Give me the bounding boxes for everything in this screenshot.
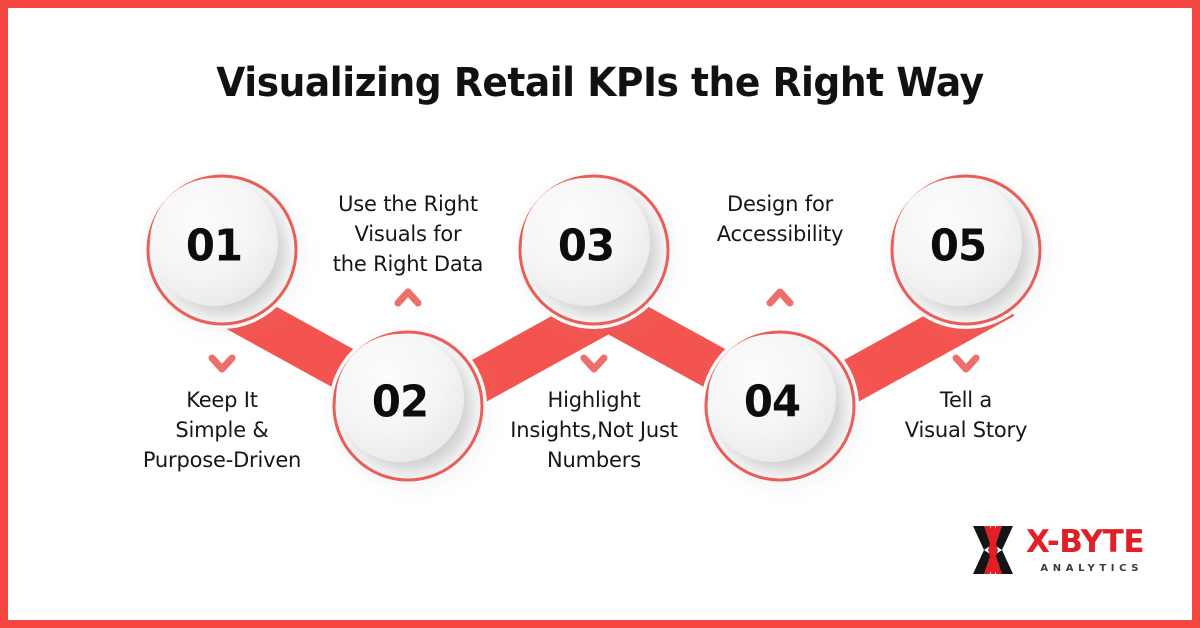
process-node-04[interactable] — [706, 332, 854, 480]
infographic-canvas: Visualizing Retail KPIs the Right Way — [0, 0, 1200, 628]
process-node-01[interactable] — [148, 176, 296, 324]
process-step-label-03: Highlight Insights,Not Just Numbers — [469, 386, 719, 475]
brand-logo-text: X-BYTE ANALYTICS — [1026, 527, 1144, 574]
x-byte-x-mark-icon — [971, 524, 1015, 576]
chevron-down-icon-step-03 — [584, 358, 604, 369]
brand-logo[interactable]: X-BYTE ANALYTICS — [971, 524, 1144, 576]
brand-tagline: ANALYTICS — [1026, 564, 1144, 574]
process-step-label-05: Tell a Visual Story — [851, 386, 1081, 446]
process-step-label-01: Keep It Simple & Purpose-Driven — [97, 386, 347, 475]
process-step-label-04: Design for Accessibility — [655, 190, 905, 250]
chevron-up-icon-step-02 — [398, 292, 418, 303]
chevron-down-icon-step-05 — [956, 358, 976, 369]
chevron-down-icon-step-01 — [212, 358, 232, 369]
brand-name: X-BYTE — [1026, 527, 1144, 558]
chevron-up-icon-step-04 — [770, 292, 790, 303]
process-step-label-02: Use the Right Visuals for the Right Data — [293, 190, 523, 279]
process-node-03[interactable] — [520, 176, 668, 324]
infographic-inner-surface: Visualizing Retail KPIs the Right Way — [8, 8, 1192, 620]
process-node-02[interactable] — [334, 332, 482, 480]
process-node-05[interactable] — [892, 176, 1040, 324]
